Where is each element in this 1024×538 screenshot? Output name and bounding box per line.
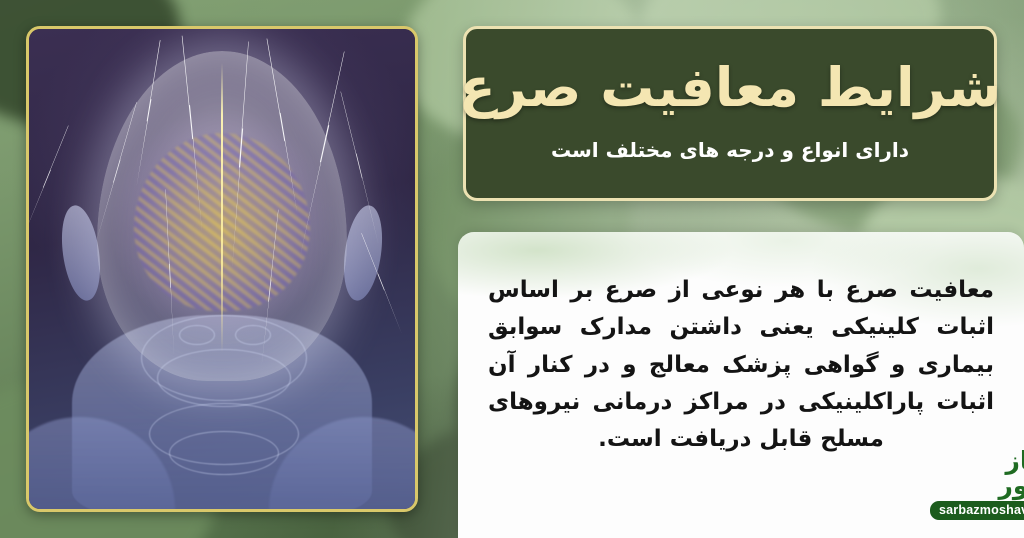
logo-brand-name: سرباز مشاور [930, 448, 1024, 498]
logo-domain-pill: sarbazmoshaver.com [930, 501, 1024, 520]
poster-root: شرایط معافیت صرع دارای انواع و درجه های … [0, 0, 1024, 538]
header-card: شرایط معافیت صرع دارای انواع و درجه های … [463, 26, 997, 201]
logo-text-block: سرباز مشاور sarbazmoshaver.com [930, 448, 1024, 520]
page-title: شرایط معافیت صرع [459, 59, 1001, 116]
page-subtitle: دارای انواع و درجه های مختلف است [551, 138, 909, 162]
medical-illustration-frame [26, 26, 418, 512]
body-card: معافیت صرع با هر نوعی از صرع بر اساس اثب… [458, 232, 1024, 538]
body-paragraph: معافیت صرع با هر نوعی از صرع بر اساس اثب… [458, 232, 1024, 458]
site-logo[interactable]: سرباز مشاور sarbazmoshaver.com [930, 448, 1024, 520]
brain-lightning-illustration [29, 29, 415, 509]
